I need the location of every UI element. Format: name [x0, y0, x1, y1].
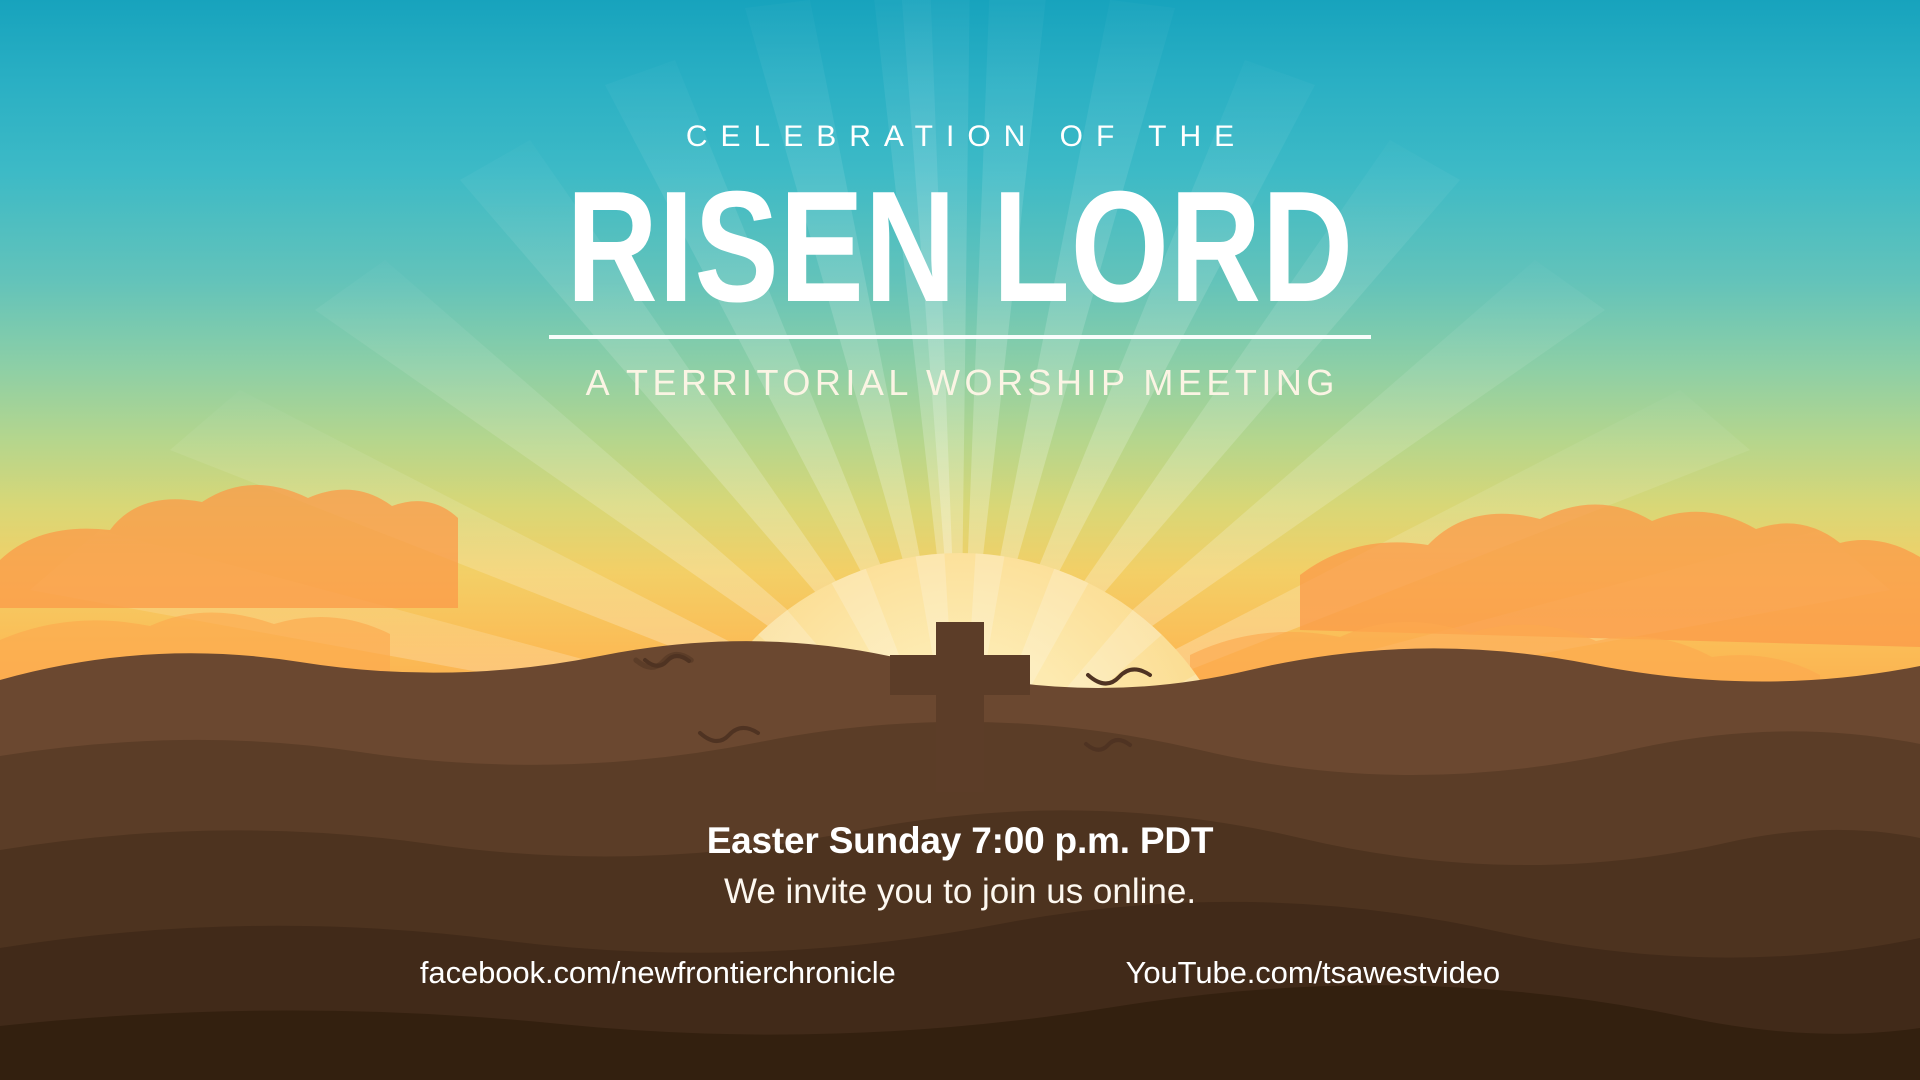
facebook-link[interactable]: facebook.com/newfrontierchronicle — [420, 955, 896, 991]
eyebrow-text: CELEBRATION OF THE — [673, 122, 1247, 152]
divider-rule — [549, 335, 1371, 339]
youtube-link[interactable]: YouTube.com/tsawestvideo — [1126, 955, 1500, 991]
subtitle-text: A TERRITORIAL WORSHIP MEETING — [581, 365, 1339, 401]
easter-service-poster: CELEBRATION OF THE RISEN LORD A TERRITOR… — [0, 0, 1920, 1080]
event-datetime: Easter Sunday 7:00 p.m. PDT — [0, 820, 1920, 862]
invitation-text: We invite you to join us online. — [0, 872, 1920, 912]
page-title: RISEN LORD — [566, 174, 1354, 321]
poster-text-content: CELEBRATION OF THE RISEN LORD A TERRITOR… — [0, 0, 1920, 1080]
social-links: facebook.com/newfrontierchronicle YouTub… — [0, 955, 1920, 991]
